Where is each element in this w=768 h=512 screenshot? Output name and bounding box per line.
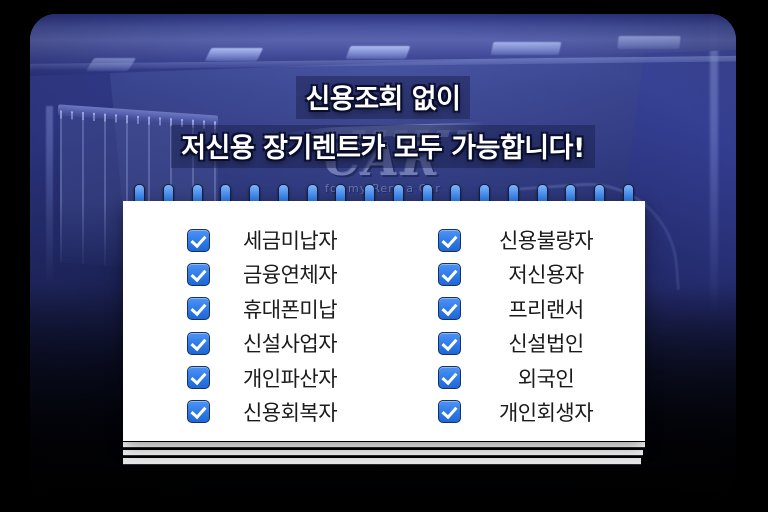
checkbox-checked-icon[interactable] — [187, 400, 210, 423]
ceiling-light-panel — [617, 36, 680, 49]
swoosh-icon — [280, 122, 486, 140]
ceiling-light-panel — [205, 48, 263, 61]
checklist-item-label: 금융연체자 — [210, 259, 384, 289]
checklist-item-label: 신설사업자 — [210, 328, 384, 358]
notepad-sheet: 세금미납자금융연체자휴대폰미납신설사업자개인파산자신용회복자 신용불량자저신용자… — [123, 201, 645, 441]
checkbox-checked-icon[interactable] — [438, 400, 461, 423]
checklist-item-label: 저신용자 — [461, 259, 645, 289]
checkbox-checked-icon[interactable] — [187, 229, 210, 252]
ceiling-light-panel — [346, 46, 411, 59]
right-wall-edge-highlight — [710, 18, 718, 318]
checklist-item[interactable]: 개인회생자 — [384, 395, 645, 429]
checklist-item-label: 신용회복자 — [210, 397, 384, 427]
headline-line-1: 신용조회 없이 — [296, 76, 471, 119]
promo-stage: CAR for my Rent a Car 신용조회 없이 저신용 장기렌트카 … — [0, 0, 768, 512]
checklist-item[interactable]: 신용회복자 — [123, 395, 384, 429]
brand-name: CAR — [280, 137, 486, 181]
checklist-column-right: 신용불량자저신용자프리랜서신설법인외국인개인회생자 — [384, 223, 645, 429]
checkbox-checked-icon[interactable] — [187, 297, 210, 320]
checklist-item-label: 신설법인 — [461, 328, 645, 358]
speed-dashes-icon — [351, 130, 473, 137]
checkbox-checked-icon[interactable] — [438, 332, 461, 355]
page-stack-layer — [123, 458, 641, 465]
ceiling-light-panel — [491, 42, 562, 55]
checklist-item[interactable]: 세금미납자 — [123, 223, 384, 257]
checklist-item-label: 프리랜서 — [461, 294, 645, 324]
checklist-item-label: 외국인 — [461, 363, 645, 393]
checkbox-checked-icon[interactable] — [438, 263, 461, 286]
checklist-column-left: 세금미납자금융연체자휴대폰미납신설사업자개인파산자신용회복자 — [123, 223, 384, 429]
checklist-item[interactable]: 저신용자 — [384, 257, 645, 291]
checklist-item[interactable]: 신설사업자 — [123, 326, 384, 360]
checklist-item[interactable]: 프리랜서 — [384, 292, 645, 326]
page-stack-layer — [123, 442, 645, 448]
page-stack — [123, 442, 645, 465]
checkbox-checked-icon[interactable] — [438, 297, 461, 320]
checklist-item[interactable]: 개인파산자 — [123, 361, 384, 395]
checklist-item-label: 신용불량자 — [461, 225, 645, 255]
checkbox-checked-icon[interactable] — [187, 263, 210, 286]
checklist-item-label: 개인파산자 — [210, 363, 384, 393]
headline-line-2: 저신용 장기렌트카 모두 가능합니다! — [171, 125, 595, 168]
checklist-item[interactable]: 휴대폰미납 — [123, 292, 384, 326]
checklist-item[interactable]: 신용불량자 — [384, 223, 645, 257]
checklist-item[interactable]: 금융연체자 — [123, 257, 384, 291]
checklist-notepad: 세금미납자금융연체자휴대폰미납신설사업자개인파산자신용회복자 신용불량자저신용자… — [123, 201, 645, 465]
checklist-item[interactable]: 신설법인 — [384, 326, 645, 360]
checklist-item[interactable]: 외국인 — [384, 361, 645, 395]
checklist-item-label: 휴대폰미납 — [210, 294, 384, 324]
checkbox-checked-icon[interactable] — [438, 366, 461, 389]
checklist-item-label: 세금미납자 — [210, 225, 384, 255]
checkbox-checked-icon[interactable] — [187, 366, 210, 389]
checklist-item-label: 개인회생자 — [461, 397, 645, 427]
page-stack-layer — [123, 450, 643, 456]
checkbox-checked-icon[interactable] — [438, 229, 461, 252]
ceiling-light-panel — [86, 58, 136, 71]
checkbox-checked-icon[interactable] — [187, 332, 210, 355]
door-frame — [46, 106, 53, 286]
